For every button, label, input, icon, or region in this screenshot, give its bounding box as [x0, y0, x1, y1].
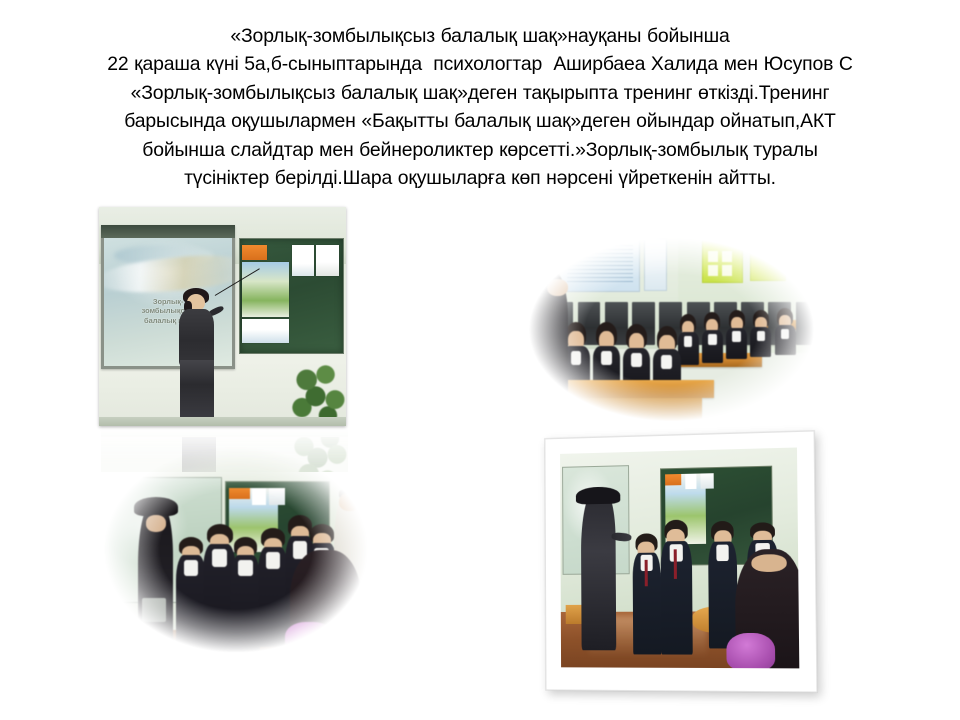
face	[751, 554, 787, 572]
face	[339, 493, 361, 511]
poster-orange	[229, 488, 249, 500]
photo-teacher-presentation[interactable]: Зорлық- зомбылықсыз балалық шақ	[99, 207, 346, 426]
student	[726, 310, 747, 359]
title-line-4: барысында оқушылармен «Бақытты балалық ш…	[30, 107, 930, 135]
title-line-1: «Зорлық-зомбылықсыз балалық шақ»науқаны …	[30, 22, 930, 50]
scene-group-noticeboard	[100, 443, 372, 656]
poster-orange	[242, 245, 267, 259]
student	[775, 308, 796, 355]
purple-backpack	[726, 633, 775, 668]
scene-computer-lab	[520, 232, 823, 427]
photo-group-at-noticeboard[interactable]	[100, 443, 372, 656]
student	[678, 314, 699, 365]
outstretched-arm	[611, 532, 632, 542]
title-line-5: бойынша слайдтар мен бейнероликтер көрсе…	[30, 136, 930, 164]
pupil	[708, 521, 738, 648]
adult-woman-with-hat	[138, 503, 173, 656]
face	[146, 515, 167, 532]
poster-white-2	[269, 488, 285, 505]
pupil	[176, 537, 206, 652]
projection-screen: Зорлық- зомбылықсыз балалық шақ	[101, 225, 234, 370]
scene-classroom-presentation: Зорлық- зомбылықсыз балалық шақ	[99, 207, 346, 426]
teacher-skirt	[180, 360, 214, 421]
student	[593, 322, 620, 388]
desk-front-top	[544, 380, 714, 398]
hat	[576, 486, 621, 504]
pupil	[231, 537, 261, 652]
photo-frame-white	[544, 430, 817, 692]
projected-slide-line-1: Зорлық-	[104, 297, 232, 307]
title-line-2: 22 қараша күні 5а,б-сыныптарында психоло…	[30, 50, 930, 78]
poster-white-3	[242, 319, 289, 343]
student	[750, 310, 771, 357]
poster-white-2	[700, 474, 713, 489]
wall-chart-narrow	[644, 238, 667, 291]
poster-white-1	[252, 488, 266, 505]
poster-white-1	[685, 474, 697, 489]
pupil	[660, 520, 692, 655]
hat	[134, 497, 178, 517]
potted-plant	[289, 360, 346, 426]
teacher-torso	[179, 309, 215, 366]
pupil	[258, 528, 288, 647]
photo-computer-classroom[interactable]	[520, 232, 823, 427]
screen-top-bar	[101, 225, 234, 238]
slide-title-text: «Зорлық-зомбылықсыз балалық шақ»науқаны …	[30, 22, 930, 192]
photo-game-activity-wrapper	[545, 438, 813, 690]
scene-game-circle	[560, 447, 799, 668]
presentation-slide: «Зорлық-зомбылықсыз балалық шақ»науқаны …	[0, 0, 960, 720]
floor-line	[99, 417, 346, 426]
handbag	[142, 598, 167, 623]
wall-chart-green	[702, 238, 743, 283]
student	[702, 312, 723, 363]
wall-chart-green-2	[750, 244, 785, 281]
photo-teacher-presentation-wrapper: Зорлық- зомбылықсыз балалық шақ	[99, 207, 346, 426]
title-line-3: «Зорлық-зомбылықсыз балалық шақ»деген та…	[30, 79, 930, 107]
poster-white-2	[316, 245, 338, 276]
poster-white-1	[292, 245, 314, 276]
teacher-with-hat	[581, 491, 617, 650]
poster-orange	[665, 474, 682, 485]
wall-chart-blue	[559, 236, 640, 293]
photo-game-activity[interactable]	[560, 447, 799, 668]
title-line-6: түсініктер берілді.Шара оқушыларға көп н…	[30, 164, 930, 192]
monitor	[796, 302, 819, 345]
chart-text-lines	[567, 245, 633, 283]
pupil	[632, 533, 661, 654]
poster-drawing-large	[242, 262, 289, 317]
purple-backpack	[285, 622, 334, 656]
